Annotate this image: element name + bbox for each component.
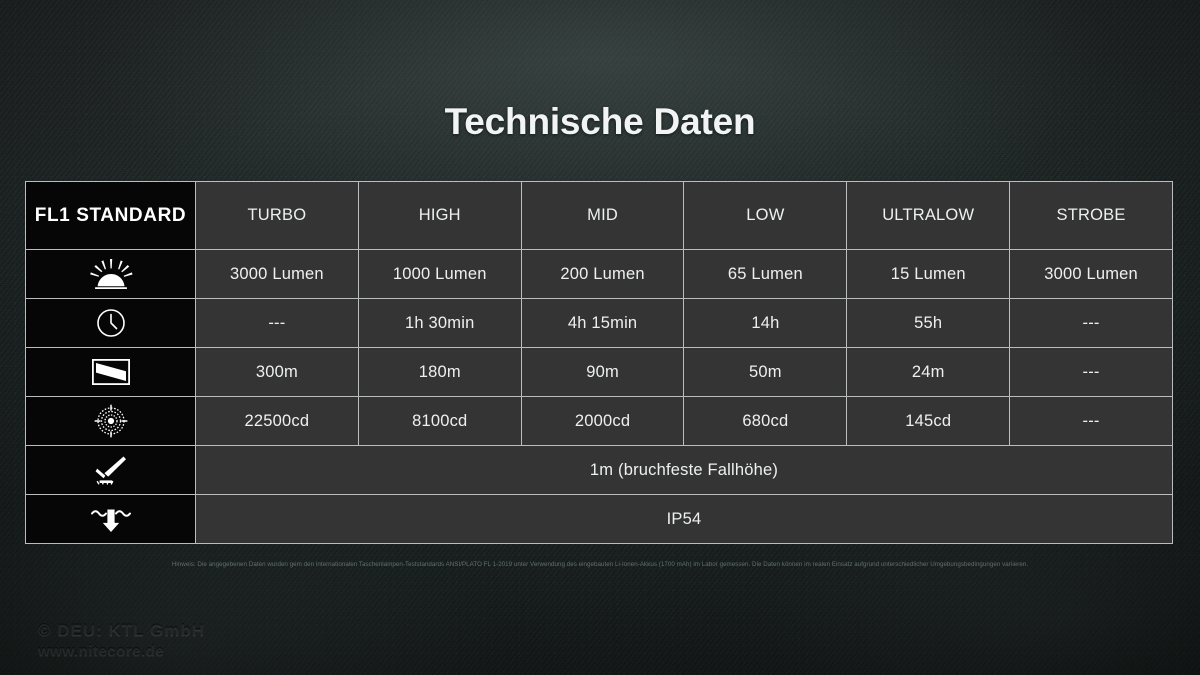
cell-runtime-high: 1h 30min [358,299,521,348]
cell-lumen-ultralow: 15 Lumen [847,250,1010,299]
table-row-runtime: --- 1h 30min 4h 15min 14h 55h --- [26,299,1173,348]
footnote-text: Hinweis: Die angegebenen Daten wurden ge… [0,561,1200,568]
column-header-strobe: STROBE [1010,182,1173,250]
cell-distance-ultralow: 24m [847,348,1010,397]
cell-distance-low: 50m [684,348,847,397]
cell-runtime-mid: 4h 15min [521,299,684,348]
table-row-impact-resistance: 1m (bruchfeste Fallhöhe) [26,446,1173,495]
slide-root: Technische Daten FL1 STANDARD TURBO HIGH… [0,0,1200,675]
cell-distance-strobe: --- [1010,348,1173,397]
watermark-company: © DEU: KTL GmbH [38,620,205,641]
cell-intensity-turbo: 22500cd [196,397,359,446]
page-title: Technische Daten [0,101,1200,143]
column-header-high: HIGH [358,182,521,250]
row-label-intensity [26,397,196,446]
clock-icon [26,299,195,347]
cell-runtime-strobe: --- [1010,299,1173,348]
row-label-water-resistance [26,495,196,544]
table-row-water-resistance: IP54 [26,495,1173,544]
cell-runtime-low: 14h [684,299,847,348]
cell-lumen-low: 65 Lumen [684,250,847,299]
watermark-website: www.nitecore.de [38,641,205,662]
column-header-ultralow: ULTRALOW [847,182,1010,250]
cell-lumen-mid: 200 Lumen [521,250,684,299]
row-label-beam-distance [26,348,196,397]
row-label-impact-resistance [26,446,196,495]
row-label-runtime [26,299,196,348]
fl1-standard-label: FL1 STANDARD [26,182,196,250]
cell-runtime-turbo: --- [196,299,359,348]
fl1-standard-text: FL1 STANDARD [35,205,186,226]
cell-intensity-low: 680cd [684,397,847,446]
table-row-beam-distance: 300m 180m 90m 50m 24m --- [26,348,1173,397]
column-header-turbo: TURBO [196,182,359,250]
cell-lumen-high: 1000 Lumen [358,250,521,299]
column-header-low: LOW [684,182,847,250]
column-header-mid: MID [521,182,684,250]
impact-resistance-icon [26,446,195,494]
light-rays-icon [26,250,195,298]
table-row-lumen: 3000 Lumen 1000 Lumen 200 Lumen 65 Lumen… [26,250,1173,299]
specifications-table: FL1 STANDARD TURBO HIGH MID LOW ULTRALOW… [25,181,1173,544]
watermark: © DEU: KTL GmbH www.nitecore.de [38,620,205,662]
cell-impact-resistance-value: 1m (bruchfeste Fallhöhe) [196,446,1173,495]
cell-distance-high: 180m [358,348,521,397]
water-resistance-icon [26,495,195,543]
cell-distance-mid: 90m [521,348,684,397]
cell-lumen-strobe: 3000 Lumen [1010,250,1173,299]
row-label-lumen [26,250,196,299]
cell-lumen-turbo: 3000 Lumen [196,250,359,299]
target-intensity-icon [26,397,195,445]
cell-intensity-ultralow: 145cd [847,397,1010,446]
cell-runtime-ultralow: 55h [847,299,1010,348]
cell-distance-turbo: 300m [196,348,359,397]
beam-distance-icon [26,348,195,396]
cell-intensity-mid: 2000cd [521,397,684,446]
table-row-intensity: 22500cd 8100cd 2000cd 680cd 145cd --- [26,397,1173,446]
cell-intensity-strobe: --- [1010,397,1173,446]
cell-intensity-high: 8100cd [358,397,521,446]
cell-water-resistance-value: IP54 [196,495,1173,544]
table-header-row: FL1 STANDARD TURBO HIGH MID LOW ULTRALOW… [26,182,1173,250]
